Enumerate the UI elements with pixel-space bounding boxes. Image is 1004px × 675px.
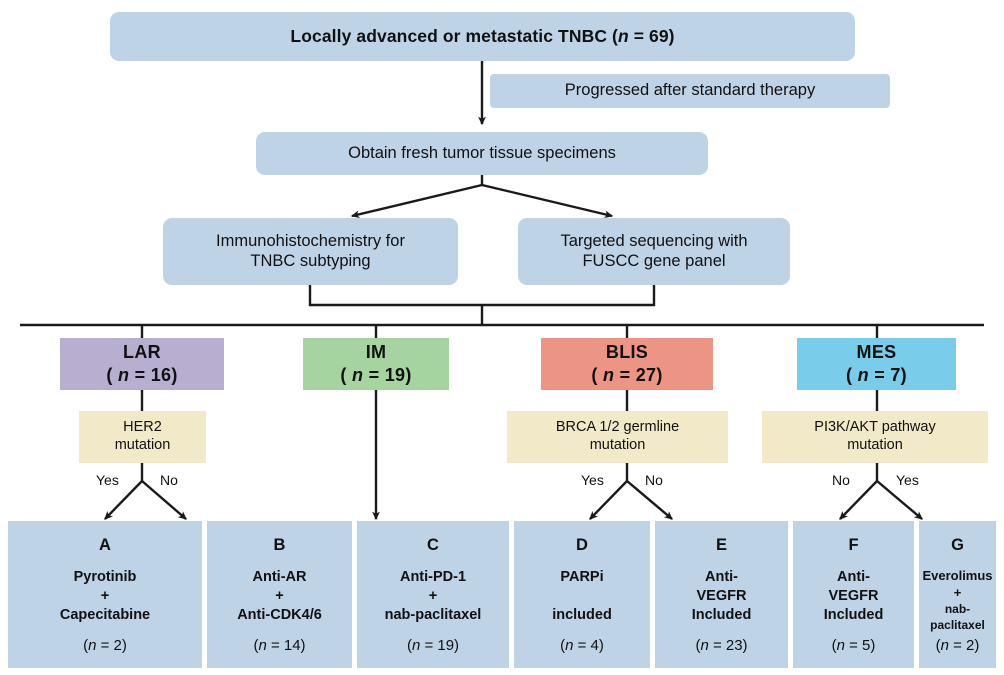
treatment-arm-b: B Anti-AR + Anti-CDK4/6 (n = 14) <box>207 521 352 668</box>
condition-her2-line1: HER2 <box>123 419 162 437</box>
arm-e-line2: VEGFR <box>697 587 747 606</box>
condition-pi3k-line2: mutation <box>847 437 903 455</box>
arm-b-line3: Anti-CDK4/6 <box>237 606 322 625</box>
enrollment-n-symbol: n <box>618 26 629 46</box>
assay-seq-line2: FUSCC gene panel <box>582 252 725 271</box>
subtype-blis-name: BLIS <box>606 342 648 363</box>
arm-g-line2: + <box>954 585 962 602</box>
condition-brca-line1: BRCA 1/2 germline <box>556 419 679 437</box>
assay-ihc-line2: TNBC subtyping <box>250 252 370 271</box>
arm-b-line1: Anti-AR <box>253 568 307 587</box>
assay-box-ihc: Immunohistochemistry for TNBC subtyping <box>163 218 458 285</box>
condition-box-her2: HER2 mutation <box>79 411 206 463</box>
progression-box: Progressed after standard therapy <box>490 74 890 108</box>
arm-d-count: (n = 4) <box>514 636 650 656</box>
arm-g-count: (n = 2) <box>919 636 996 656</box>
arm-d-line3: included <box>552 606 612 625</box>
arm-e-count: (n = 23) <box>655 636 788 656</box>
arm-b-line2: + <box>275 587 283 606</box>
subtype-box-blis: BLIS ( n = 27) <box>541 338 713 390</box>
branch-label-pi3k-yes: Yes <box>896 472 919 488</box>
branch-label-her2-no: No <box>160 472 178 488</box>
subtype-lar-count: ( n = 16) <box>106 365 177 386</box>
specimen-box: Obtain fresh tumor tissue specimens <box>256 132 708 175</box>
arm-a-line2: + <box>101 587 109 606</box>
arm-d-line1: PARPi <box>560 568 603 587</box>
treatment-arm-g: G Everolimus + nab-paclitaxel (n = 2) <box>919 521 996 668</box>
arm-c-count: (n = 19) <box>357 636 509 656</box>
condition-her2-line2: mutation <box>115 437 171 455</box>
arm-c-line2: + <box>429 587 437 606</box>
branch-label-her2-yes: Yes <box>96 472 119 488</box>
subtype-mes-count: ( n = 7) <box>846 365 907 386</box>
arm-c-line1: Anti-PD-1 <box>400 568 466 587</box>
arm-f-count: (n = 5) <box>793 636 914 656</box>
arm-e-line3: Included <box>692 606 752 625</box>
condition-brca-line2: mutation <box>590 437 646 455</box>
progression-label: Progressed after standard therapy <box>565 81 815 100</box>
arm-a-letter: A <box>99 535 111 556</box>
enrollment-label: Locally advanced or metastatic TNBC (n =… <box>290 26 674 47</box>
specimen-label: Obtain fresh tumor tissue specimens <box>348 144 616 163</box>
branch-label-brca-yes: Yes <box>581 472 604 488</box>
subtype-im-name: IM <box>366 342 387 363</box>
arm-f-line2: VEGFR <box>829 587 879 606</box>
arm-a-line1: Pyrotinib <box>74 568 137 587</box>
enrollment-box: Locally advanced or metastatic TNBC (n =… <box>110 12 855 61</box>
treatment-arm-c: C Anti-PD-1 + nab-paclitaxel (n = 19) <box>357 521 509 668</box>
treatment-arm-e: E Anti- VEGFR Included (n = 23) <box>655 521 788 668</box>
treatment-arm-a: A Pyrotinib + Capecitabine (n = 2) <box>8 521 202 668</box>
branch-label-pi3k-no: No <box>832 472 850 488</box>
arm-a-line3: Capecitabine <box>60 606 150 625</box>
flowchart-canvas: Locally advanced or metastatic TNBC (n =… <box>0 0 1004 675</box>
subtype-im-count: ( n = 19) <box>340 365 411 386</box>
subtype-box-lar: LAR ( n = 16) <box>60 338 224 390</box>
arm-f-line3: Included <box>824 606 884 625</box>
subtype-lar-name: LAR <box>123 342 161 363</box>
arm-f-line1: Anti- <box>837 568 870 587</box>
subtype-box-im: IM ( n = 19) <box>303 338 449 390</box>
arm-b-letter: B <box>274 535 286 556</box>
condition-pi3k-line1: PI3K/AKT pathway <box>814 419 935 437</box>
arm-b-count: (n = 14) <box>207 636 352 656</box>
arm-g-letter: G <box>951 535 964 556</box>
arm-e-line1: Anti- <box>705 568 738 587</box>
arm-c-line3: nab-paclitaxel <box>385 606 482 625</box>
subtype-blis-count: ( n = 27) <box>591 365 662 386</box>
subtype-box-mes: MES ( n = 7) <box>797 338 956 390</box>
arm-g-line1: Everolimus <box>922 568 992 585</box>
arm-f-letter: F <box>848 535 858 556</box>
treatment-arm-f: F Anti- VEGFR Included (n = 5) <box>793 521 914 668</box>
assay-seq-line1: Targeted sequencing with <box>560 232 747 251</box>
assay-ihc-line1: Immunohistochemistry for <box>216 232 405 251</box>
arm-g-line3: nab-paclitaxel <box>919 602 996 633</box>
branch-label-brca-no: No <box>645 472 663 488</box>
assay-box-sequencing: Targeted sequencing with FUSCC gene pane… <box>518 218 790 285</box>
condition-box-brca: BRCA 1/2 germline mutation <box>507 411 728 463</box>
treatment-arm-d: D PARPi included (n = 4) <box>514 521 650 668</box>
condition-box-pi3k: PI3K/AKT pathway mutation <box>762 411 988 463</box>
arm-c-letter: C <box>427 535 439 556</box>
subtype-mes-name: MES <box>857 342 897 363</box>
arm-d-letter: D <box>576 535 588 556</box>
arm-e-letter: E <box>716 535 727 556</box>
arm-a-count: (n = 2) <box>8 636 202 656</box>
